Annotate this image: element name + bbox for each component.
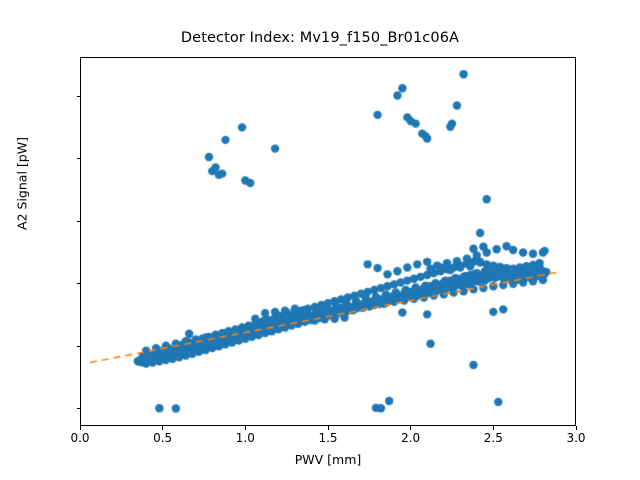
- x-tick-label: 0.5: [153, 431, 172, 445]
- axes-frame: [80, 57, 576, 426]
- x-tick-mark: [80, 426, 81, 430]
- x-tick-mark: [493, 426, 494, 430]
- y-tick-mark: [77, 158, 81, 159]
- x-tick-mark: [162, 426, 163, 430]
- x-tick-mark: [576, 426, 577, 430]
- x-tick-label: 0.0: [70, 431, 89, 445]
- x-tick-mark: [410, 426, 411, 430]
- y-tick-mark: [77, 221, 81, 222]
- x-tick-label: 2.0: [401, 431, 420, 445]
- x-tick-label: 1.0: [236, 431, 255, 445]
- x-tick-mark: [245, 426, 246, 430]
- scatter-plot-figure: Detector Index: Mv19_f150_Br01c06A A2 Si…: [0, 0, 640, 480]
- y-tick-mark: [77, 408, 81, 409]
- x-tick-label: 3.0: [566, 431, 585, 445]
- y-tick-mark: [77, 346, 81, 347]
- y-tick-mark: [77, 283, 81, 284]
- x-tick-label: 1.5: [318, 431, 337, 445]
- y-tick-mark: [77, 96, 81, 97]
- x-tick-label: 2.5: [484, 431, 503, 445]
- x-tick-mark: [328, 426, 329, 430]
